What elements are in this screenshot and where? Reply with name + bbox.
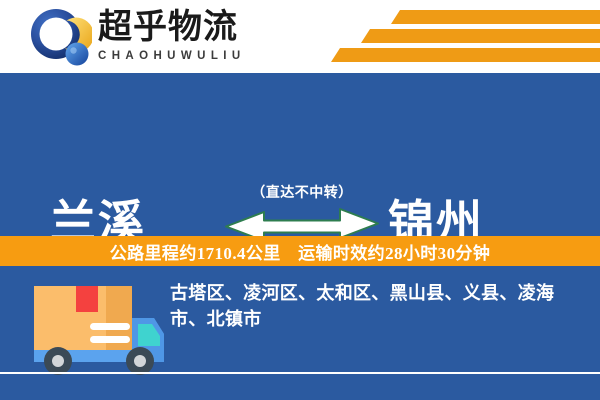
page-header: 超乎物流 CHAOHUWULIU <box>0 0 600 73</box>
brand-logo[interactable]: 超乎物流 CHAOHUWULIU <box>30 8 246 68</box>
header-stripes-decoration <box>330 8 600 66</box>
header-stripe-2 <box>361 29 600 43</box>
route-info-bar: 公路里程约1710.4公里 运输时效约28小时30分钟 <box>0 236 600 266</box>
route-info-text: 公路里程约1710.4公里 运输时效约28小时30分钟 <box>110 239 491 264</box>
logistics-route-banner: 超乎物流 CHAOHUWULIU 兰溪 （直达不中转） 【往返运输】 锦州 公路… <box>0 0 600 400</box>
brand-name-cn: 超乎物流 <box>98 9 246 47</box>
circle-crescent-logo-icon <box>30 8 92 68</box>
coverage-section: 古塔区、凌河区、太和区、黑山县、义县、凌海市、北镇市 <box>0 266 600 400</box>
brand-name-en: CHAOHUWULIU <box>98 50 246 62</box>
footer-divider <box>0 372 600 374</box>
route-section: 兰溪 （直达不中转） 【往返运输】 锦州 <box>0 73 600 236</box>
header-stripe-1 <box>391 10 600 24</box>
header-stripe-3 <box>331 48 600 62</box>
delivery-truck-icon <box>28 278 170 378</box>
brand-text: 超乎物流 CHAOHUWULIU <box>98 8 246 62</box>
coverage-areas-text: 古塔区、凌河区、太和区、黑山县、义县、凌海市、北镇市 <box>170 280 582 332</box>
direct-service-note: （直达不中转） <box>218 185 386 203</box>
